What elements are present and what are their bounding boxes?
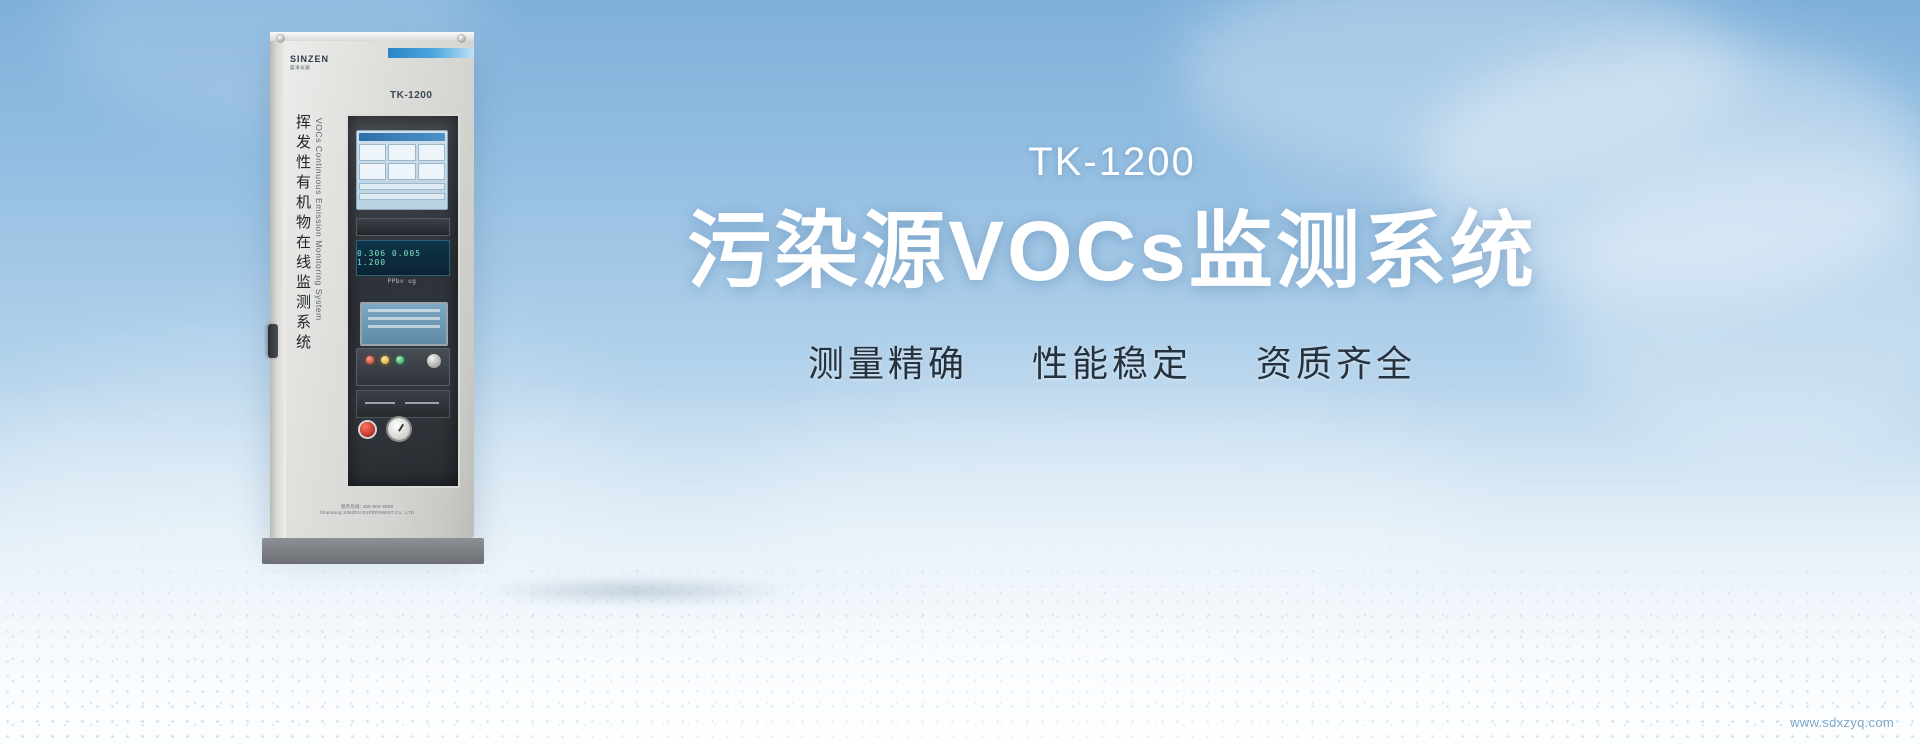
- pipe-icon: [405, 402, 439, 404]
- hmi-cell: [359, 163, 386, 180]
- cabinet-window: 0.306 0.005 1.200 PPbv ug: [346, 114, 460, 488]
- cabinet-vertical-english-text: VOCs Continuous Emission Monitoring Syst…: [314, 118, 324, 321]
- bolt-icon: [458, 35, 465, 42]
- page-title: 污染源VOCs监测系统: [662, 206, 1562, 297]
- status-led-green-icon: [396, 356, 404, 364]
- bolt-icon: [277, 35, 284, 42]
- hmi-cell: [388, 144, 415, 161]
- cabinet-vertical-chinese-text: 挥发性有机物在线监测系统: [290, 114, 312, 354]
- hmi-status-bar: [359, 193, 445, 200]
- instrument-strip: [356, 218, 450, 236]
- feature-list: 测量精确 性能稳定 资质齐全: [662, 335, 1562, 387]
- digital-readout: 0.306 0.005 1.200: [356, 240, 450, 276]
- horizon-glow-line: [330, 646, 1630, 648]
- feature-item-2: 性能稳定: [1032, 335, 1192, 387]
- cabinet-accent-stripe: [388, 48, 474, 58]
- status-led-amber-icon: [381, 356, 389, 364]
- hmi-cell: [418, 144, 445, 161]
- brand-sub-text: 盛泽仪器: [290, 65, 354, 71]
- hmi-cell-grid: [359, 144, 445, 180]
- hmi-cell: [418, 163, 445, 180]
- emergency-stop-button-icon: [360, 422, 375, 437]
- product-cabinet-image: SINZEN 盛泽仪器 TK-1200 挥发性有机物在线监测系统 VOCs Co…: [262, 26, 484, 564]
- product-model-title: TK-1200: [662, 140, 1562, 184]
- lcd-line: [368, 309, 440, 312]
- feature-item-3: 资质齐全: [1256, 335, 1416, 387]
- cabinet-shadow: [478, 578, 798, 604]
- cabinet-company: Shandong SINZEN EXPERIMENT Co., LTD: [292, 510, 442, 516]
- control-knob-icon: [427, 354, 441, 368]
- hmi-cell: [359, 144, 386, 161]
- light-ridge: [0, 534, 1920, 744]
- cabinet-model-label: TK-1200: [390, 90, 432, 101]
- lcd-line: [368, 325, 440, 328]
- control-panel: [356, 348, 450, 386]
- hero-banner: SINZEN 盛泽仪器 TK-1200 挥发性有机物在线监测系统 VOCs Co…: [0, 0, 1920, 744]
- cabinet-brand-logo: SINZEN 盛泽仪器: [290, 54, 354, 76]
- cabinet-left-frame: [270, 32, 286, 538]
- lcd-line: [368, 317, 440, 320]
- lcd-display: [360, 302, 448, 346]
- site-watermark: www.sdxzyq.com: [1790, 715, 1894, 730]
- cabinet-plinth: [262, 538, 484, 564]
- digital-readout-unit: PPbv ug: [356, 278, 448, 285]
- hero-text-block: TK-1200 污染源VOCs监测系统 测量精确 性能稳定 资质齐全: [662, 140, 1562, 387]
- status-led-red-icon: [366, 356, 374, 364]
- pipe-icon: [365, 402, 395, 404]
- hmi-title-bar: [359, 133, 445, 141]
- cabinet-top-cap: [270, 32, 474, 41]
- hmi-touchscreen: [356, 130, 448, 210]
- cabinet-footer-text: 服务热线: 400-900-9888 Shandong SINZEN EXPER…: [292, 504, 442, 516]
- hmi-status-bar: [359, 183, 445, 190]
- valve-manifold: [356, 390, 450, 418]
- cabinet-door-handle: [268, 324, 278, 358]
- pressure-gauge-icon: [388, 418, 410, 440]
- feature-item-1: 测量精确: [808, 335, 968, 387]
- brand-name-text: SINZEN: [290, 54, 354, 64]
- hmi-cell: [388, 163, 415, 180]
